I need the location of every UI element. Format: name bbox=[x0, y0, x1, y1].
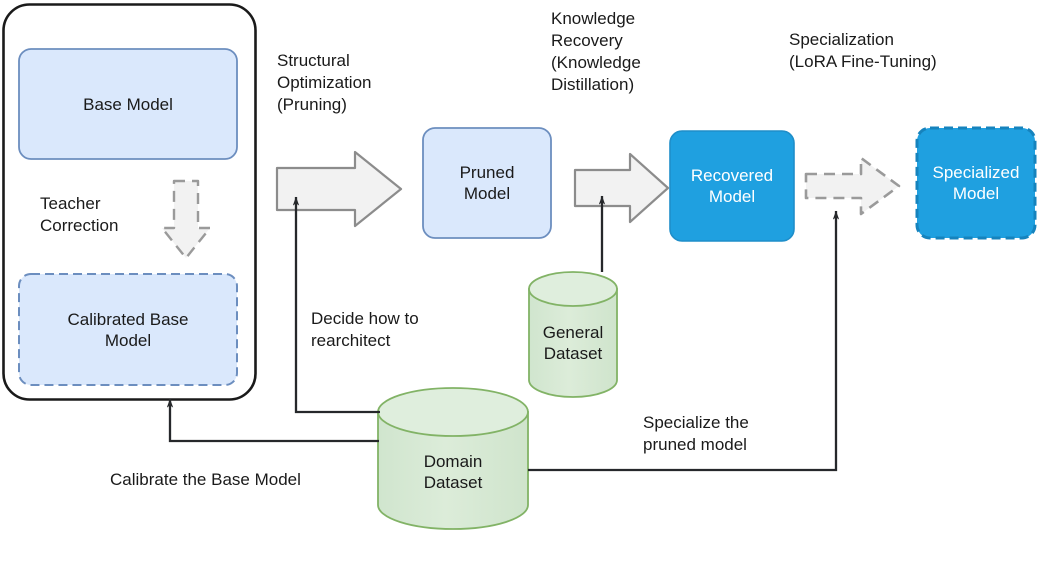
distillation-block-arrow-icon bbox=[575, 154, 668, 222]
edge-label-decide-how-to-rearchitect: Decide how to rearchitect bbox=[311, 308, 419, 352]
node-pruned-model[interactable] bbox=[423, 128, 551, 238]
node-specialized-model[interactable] bbox=[917, 128, 1035, 238]
edge-label-calibrate-the-base-model: Calibrate the Base Model bbox=[110, 469, 301, 491]
node-base-model[interactable] bbox=[19, 49, 237, 159]
node-calibrated-base-model[interactable] bbox=[19, 274, 237, 385]
stage-label-knowledge-recovery: Knowledge Recovery (Knowledge Distillati… bbox=[551, 8, 641, 96]
edge-label-specialize-the-pruned-model: Specialize the pruned model bbox=[643, 412, 749, 456]
node-general-dataset[interactable] bbox=[529, 272, 617, 397]
edge-label-teacher-correction: Teacher Correction bbox=[40, 193, 118, 237]
diagram-canvas: Base Model Calibrated Base Model Pruned … bbox=[0, 0, 1042, 568]
node-recovered-model[interactable] bbox=[670, 131, 794, 241]
node-domain-dataset[interactable] bbox=[378, 388, 528, 529]
lora-block-arrow-icon bbox=[806, 158, 899, 214]
domain-to-calibration-connector bbox=[170, 399, 379, 441]
domain-to-pruning-connector bbox=[296, 197, 380, 412]
stage-label-specialization: Specialization (LoRA Fine-Tuning) bbox=[789, 29, 937, 73]
stage-label-structural-optimization: Structural Optimization (Pruning) bbox=[277, 50, 371, 116]
